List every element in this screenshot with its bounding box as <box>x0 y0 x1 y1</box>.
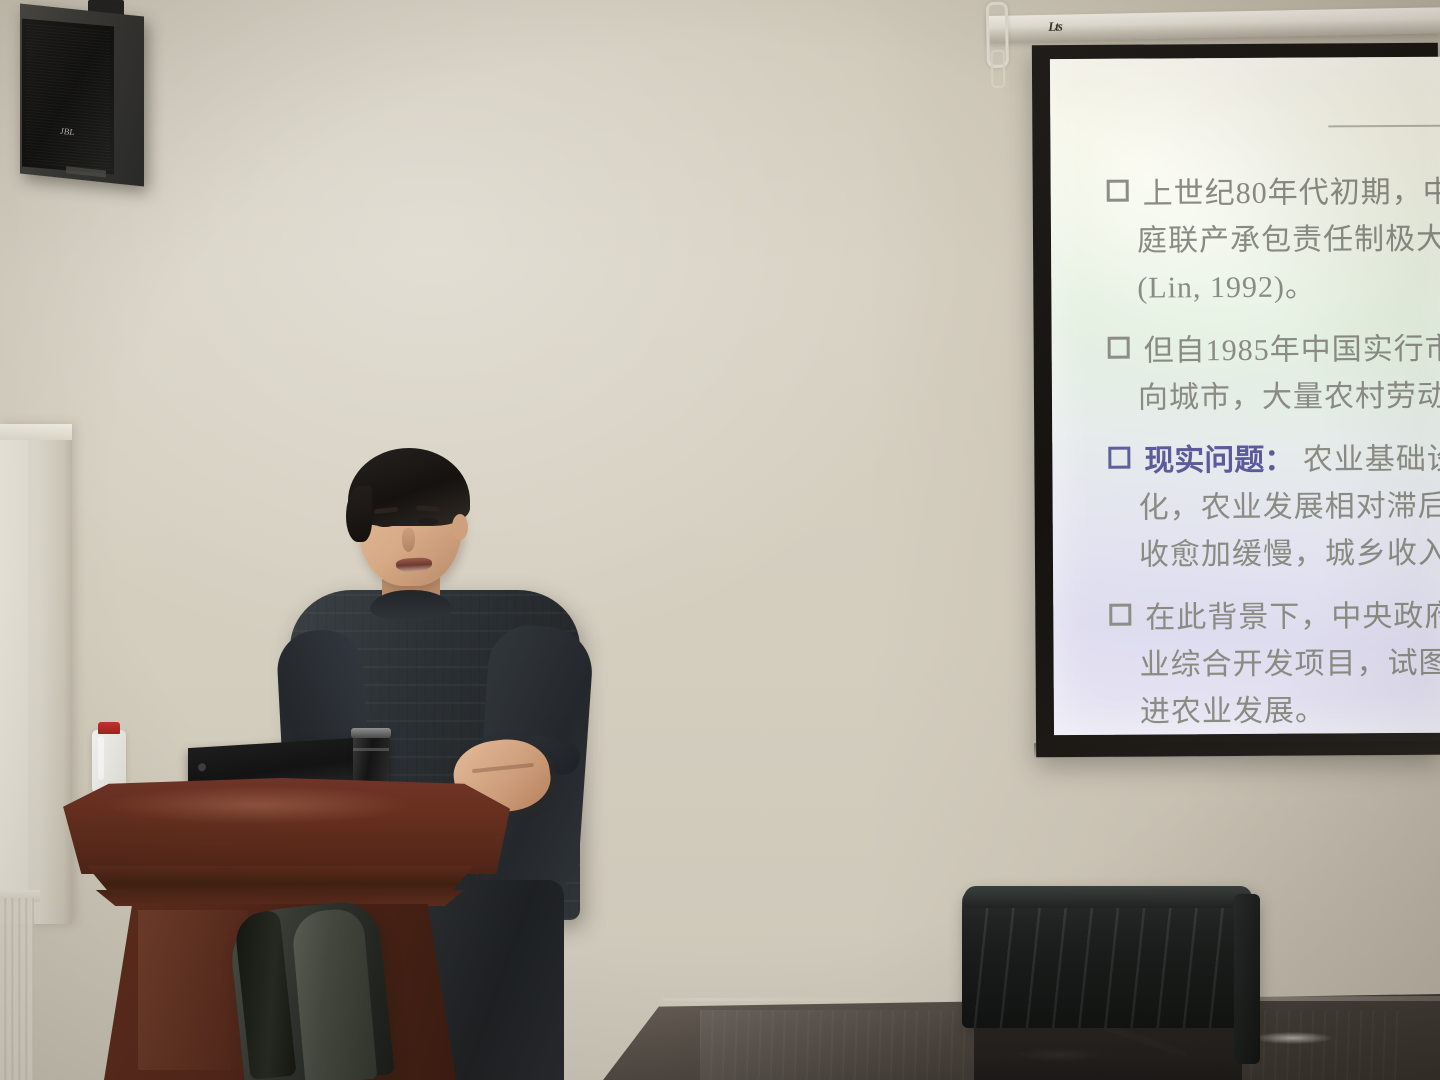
projection-screen-surface: 上世纪80年代初期，中庭联产承包责任制极大(Lin, 1992)。但自1985年… <box>1050 57 1440 735</box>
slide-line-text: 业综合开发项目，试图 <box>1140 647 1440 682</box>
thermos-lid <box>351 728 391 738</box>
sweater-collar <box>370 590 452 620</box>
chair-left-draped-cloth <box>291 907 378 1080</box>
chair-right-top-roll <box>964 886 1252 908</box>
radiator <box>0 898 34 1080</box>
chair-right <box>962 888 1262 1080</box>
slide-bullet: 现实问题： 农业基础设化，农业发展相对滞后收愈加缓慢，城乡收入 <box>1108 436 1440 579</box>
roller-brand-logo: Lts <box>1048 18 1062 34</box>
chair-right-side-panel <box>1234 894 1260 1064</box>
wall-speaker: JBL <box>14 0 164 190</box>
chair-left <box>236 906 412 1080</box>
presenter-eye-left <box>375 520 395 527</box>
speaker-brand-logo: JBL <box>56 125 78 138</box>
seminar-photo-scene: JBL Lts 上世纪80年代初期，中庭联产承包责任制极大(Lin, 1992)… <box>0 0 1440 1080</box>
slide-bullet-line: 上世纪80年代初期，中 <box>1107 169 1440 218</box>
water-bottle-highlight <box>98 736 104 780</box>
slide-bullet-line: 庭联产承包责任制极大 <box>1107 216 1440 265</box>
lectern-column-highlight <box>138 910 248 1070</box>
slide-bullet-line: 化，农业发展相对滞后 <box>1109 483 1440 532</box>
slide-emphasis-text: 现实问题： <box>1144 444 1294 478</box>
laptop-logo-icon <box>198 763 206 771</box>
slide-bullet-line: 进农业发展。 <box>1110 687 1440 736</box>
table-reflection-b <box>1254 1032 1332 1044</box>
bullet-square-icon <box>1107 180 1129 202</box>
speaker-grill <box>26 23 110 170</box>
bullet-square-icon <box>1108 447 1130 469</box>
chair-right-pleats <box>962 888 1254 1028</box>
slide-bullet-line: 在此背景下，中央政府 <box>1109 593 1440 642</box>
slide-bullet: 上世纪80年代初期，中庭联产承包责任制极大(Lin, 1992)。 <box>1107 169 1440 312</box>
slide-line-text: 上世纪80年代初期，中 <box>1143 176 1440 211</box>
chair-right-backrest <box>962 888 1254 1028</box>
presenter-ear <box>452 514 468 540</box>
slide-line-text: 庭联产承包责任制极大 <box>1137 223 1440 258</box>
slide-bullet: 在此背景下，中央政府业综合开发项目，试图进农业发展。 <box>1109 593 1440 736</box>
slide-line-text: 进农业发展。 <box>1140 694 1326 728</box>
wall-pillar-top <box>0 424 72 440</box>
slide-line-text: 但自1985年中国实行市 <box>1144 333 1440 368</box>
slide-line-text: 化，农业发展相对滞后 <box>1139 490 1440 525</box>
screen-hook-secondary-icon <box>991 50 1006 88</box>
slide-bullet: 但自1985年中国实行市向城市，大量农村劳动 <box>1108 326 1440 422</box>
thermos-ring <box>353 748 389 751</box>
presenter-eye-right <box>418 518 438 525</box>
slide-bullet-line: 但自1985年中国实行市 <box>1108 326 1440 375</box>
presenter-hair-side <box>346 486 372 542</box>
speaker-front-face <box>22 18 114 174</box>
slide-bullet-line: 收愈加缓慢，城乡收入 <box>1109 530 1440 579</box>
lectern-top-highlight <box>108 786 408 824</box>
slide-line-text: 农业基础设 <box>1303 443 1440 477</box>
bullet-square-icon <box>1109 604 1131 626</box>
slide-line-text: 收愈加缓慢，城乡收入 <box>1139 537 1440 572</box>
slide-bullet-list: 上世纪80年代初期，中庭联产承包责任制极大(Lin, 1992)。但自1985年… <box>1107 169 1440 736</box>
slide-bullet-line: 向城市，大量农村劳动 <box>1108 373 1440 422</box>
slide-bullet-line: (Lin, 1992)。 <box>1107 263 1440 312</box>
lectern-lip-lower <box>84 890 476 906</box>
presenter-nose <box>402 528 415 552</box>
slide-line-text: (Lin, 1992)。 <box>1137 271 1316 305</box>
projection-screen-frame: 上世纪80年代初期，中庭联产承包责任制极大(Lin, 1992)。但自1985年… <box>1032 43 1440 757</box>
bullet-square-icon <box>1108 337 1130 359</box>
speaker-body: JBL <box>20 3 144 186</box>
slide-bullet-line: 现实问题： 农业基础设 <box>1108 436 1440 485</box>
slide-bullet-line: 业综合开发项目，试图 <box>1109 640 1440 689</box>
slide-title-rule <box>1328 125 1440 128</box>
wall-pillar-inner-face <box>0 424 28 924</box>
slide-line-text: 向城市，大量农村劳动 <box>1138 380 1440 415</box>
screen-drop-shadow <box>1034 741 1440 759</box>
slide-line-text: 在此背景下，中央政府 <box>1145 600 1440 635</box>
water-bottle-cap <box>98 722 120 734</box>
